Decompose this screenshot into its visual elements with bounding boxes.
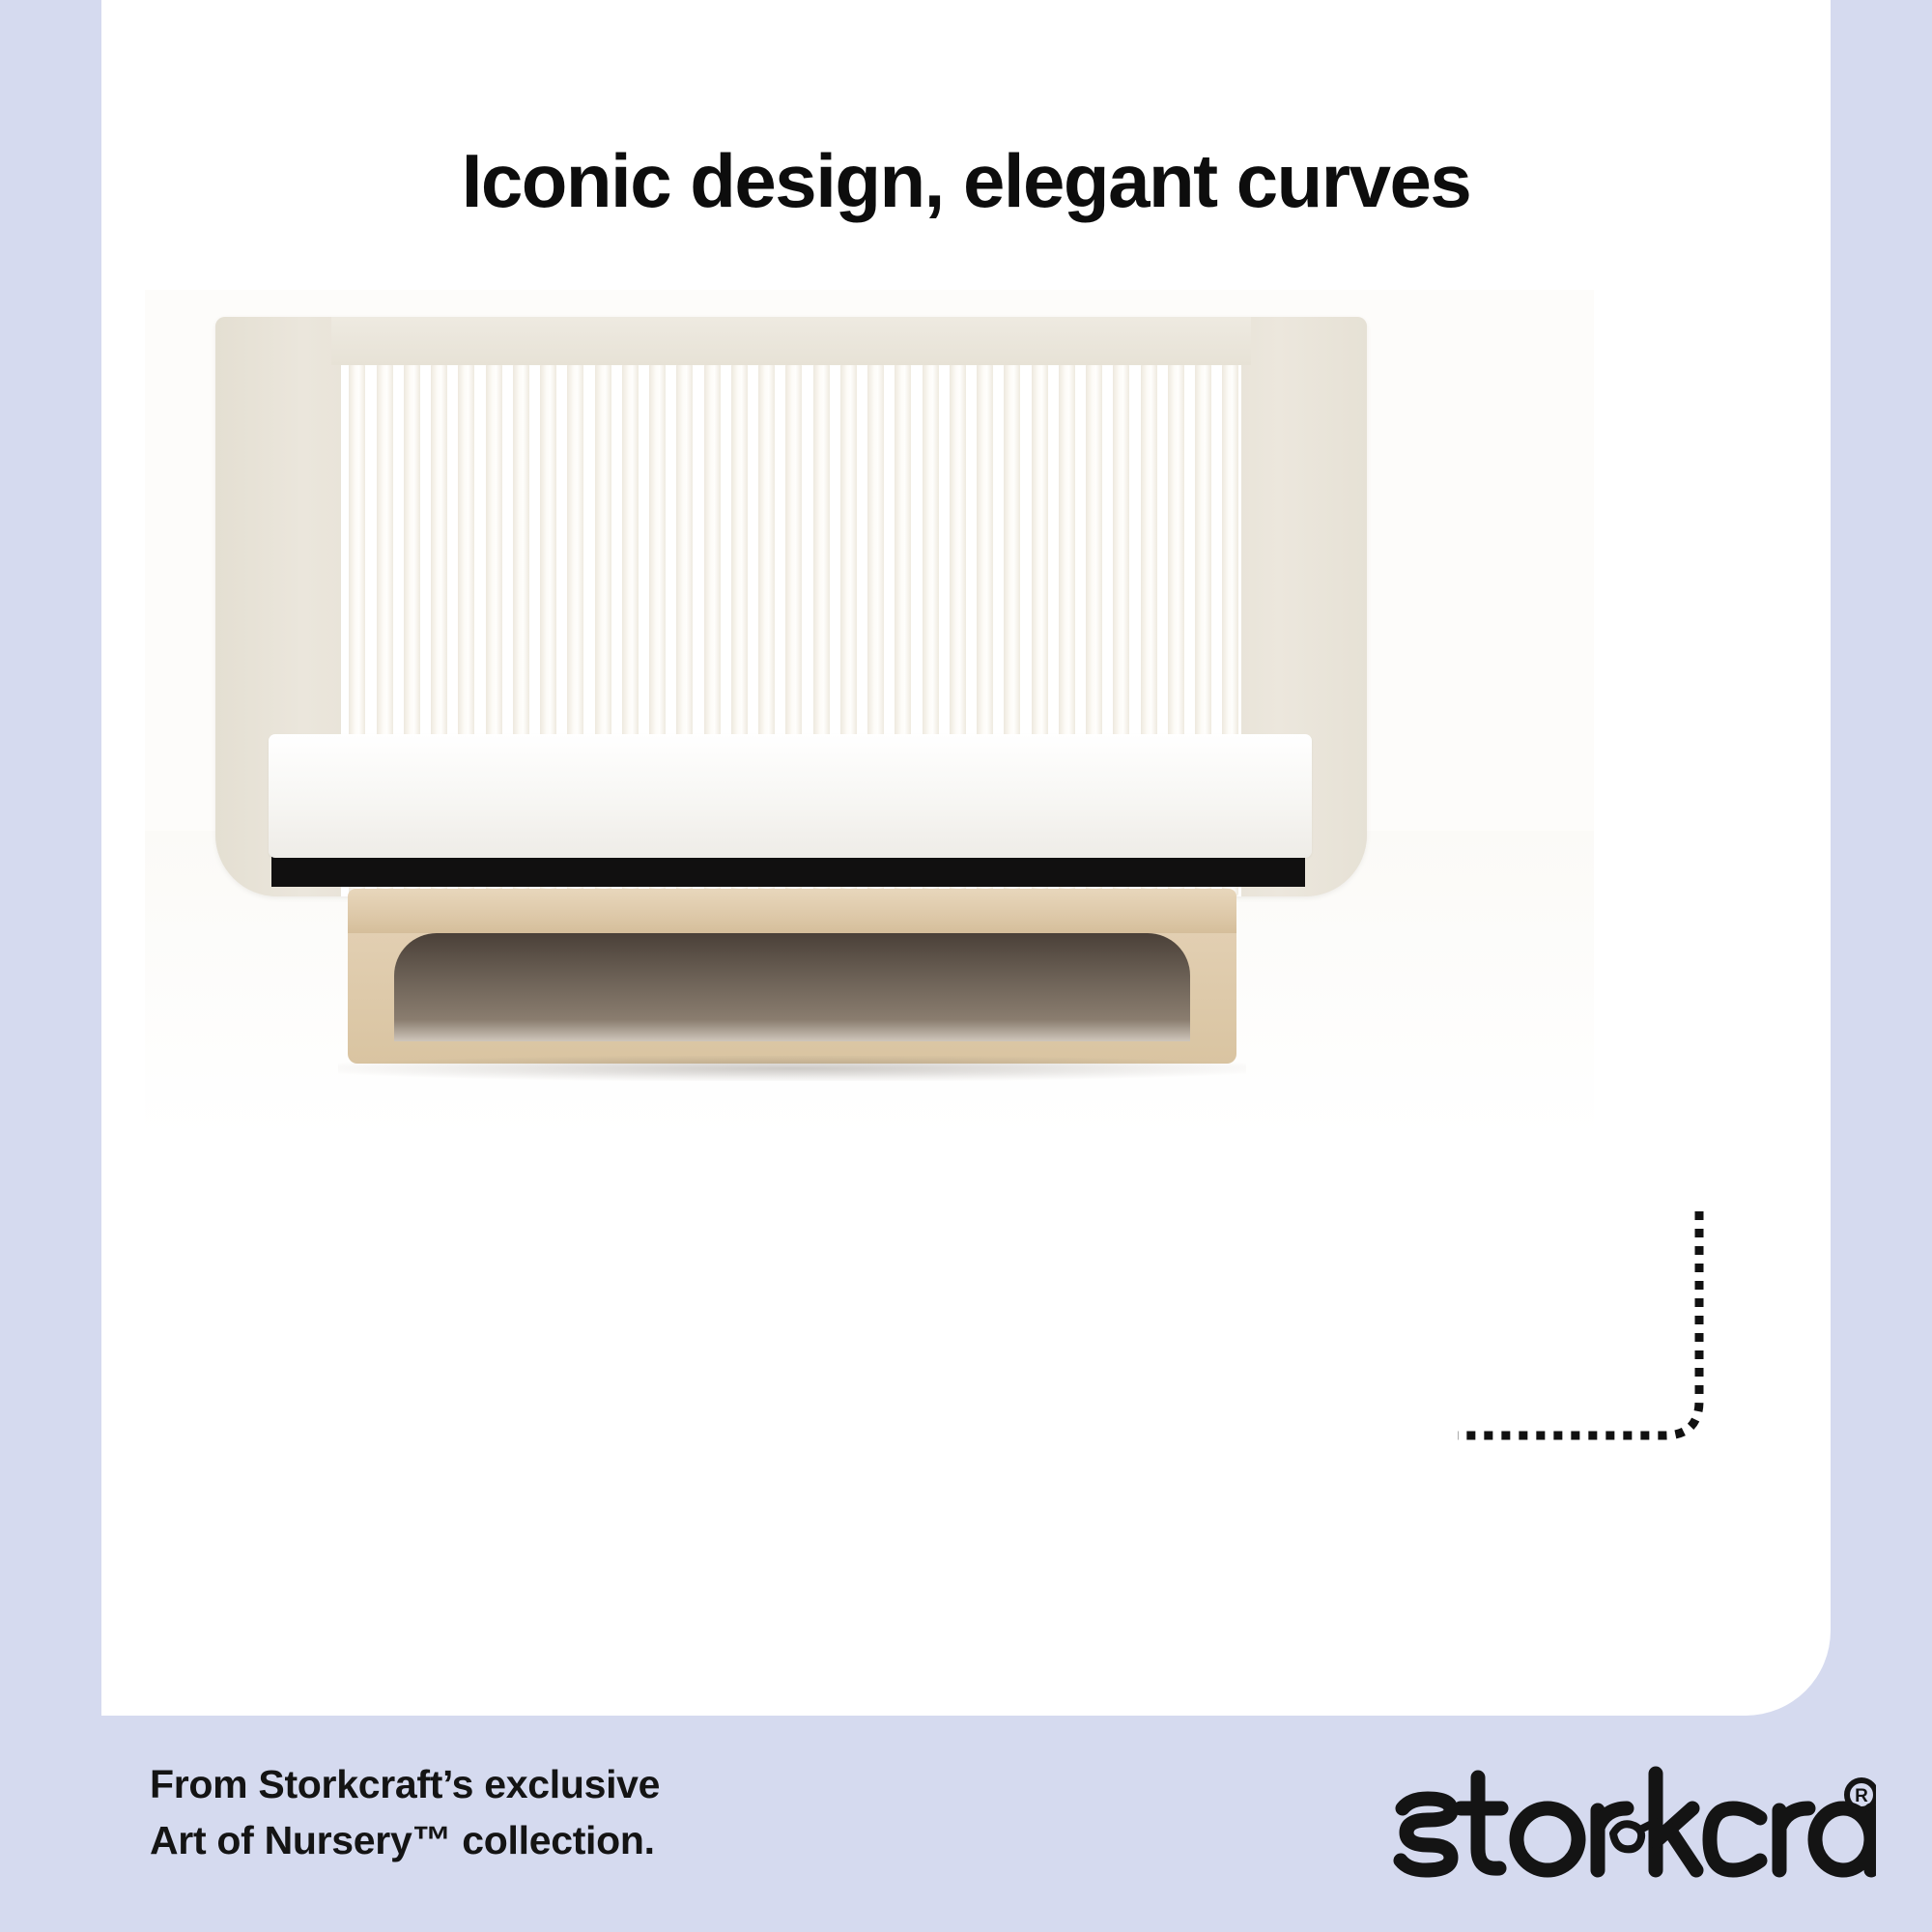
crib-mattress <box>269 734 1312 858</box>
product-image <box>145 290 1594 1343</box>
footer-line-2: Art of Nursery™ collection. <box>150 1812 660 1868</box>
poster-canvas: Iconic design, elegant curves From Stork… <box>0 0 1932 1932</box>
svg-text:R: R <box>1855 1786 1868 1806</box>
registered-trademark-icon: R <box>1847 1780 1876 1809</box>
crib-top-rail <box>331 317 1251 365</box>
floor-shadow <box>338 1056 1246 1081</box>
wood-base-rail <box>348 889 1236 935</box>
footer-caption: From Storkcraft’s exclusive Art of Nurse… <box>150 1756 660 1868</box>
wood-base-legs <box>348 933 1236 1064</box>
wood-base-arch <box>394 933 1190 1041</box>
crib-frame <box>215 317 1367 896</box>
storkcraft-logo: R <box>1374 1760 1876 1886</box>
page-title: Iconic design, elegant curves <box>101 143 1831 218</box>
footer-line-1: From Storkcraft’s exclusive <box>150 1756 660 1812</box>
